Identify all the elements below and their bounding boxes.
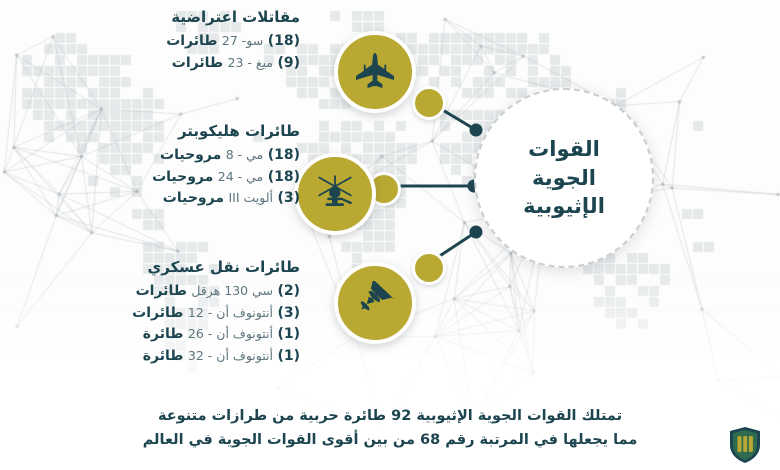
model-name: أنتونوف أن - 12 bbox=[188, 305, 273, 320]
fighter-jet-icon bbox=[354, 51, 396, 93]
group-title-interceptors: مقاتلات اعتراضية bbox=[166, 8, 300, 26]
aircraft-kind: طائرات bbox=[132, 305, 183, 321]
list-item: (18) سو- 27 طائرات bbox=[166, 31, 300, 53]
aircraft-kind: مروحيات bbox=[152, 169, 213, 185]
count-value: (9) bbox=[277, 55, 300, 71]
group-transport: طائرات نقل عسكري (2) سي 130 هرقل طائرات … bbox=[132, 258, 300, 368]
model-name: أنتونوف أن - 32 bbox=[188, 348, 273, 363]
list-item: (1) أنتونوف أن - 32 طائرة bbox=[132, 346, 300, 368]
model-name: أنتونوف أن - 26 bbox=[188, 326, 273, 341]
model-name: مي - 8 bbox=[226, 147, 264, 162]
count-value: (3) bbox=[277, 190, 300, 206]
infographic-root: القوات الجوية الإثيوبية bbox=[0, 0, 780, 470]
shield-logo bbox=[728, 426, 762, 464]
aircraft-kind: طائرات bbox=[136, 283, 187, 299]
aircraft-kind: طائرة bbox=[143, 326, 184, 342]
transport-plane-icon bbox=[353, 281, 397, 325]
badge-interceptors[interactable] bbox=[334, 31, 416, 113]
aircraft-kind: طائرة bbox=[143, 348, 184, 364]
list-item: (3) أنتونوف أن - 12 طائرات bbox=[132, 303, 300, 325]
hub-title-line-2: الجوية bbox=[532, 165, 596, 192]
count-value: (18) bbox=[268, 169, 300, 185]
footer-line-2: مما يجعلها في المرتبة رقم 68 من بين أقوى… bbox=[0, 429, 780, 452]
model-name: ميغ - 23 bbox=[228, 55, 273, 70]
count-value: (18) bbox=[268, 33, 300, 49]
aircraft-kind: مروحيات bbox=[163, 190, 224, 206]
model-name: مي - 24 bbox=[218, 169, 263, 184]
group-title-transport: طائرات نقل عسكري bbox=[132, 258, 300, 276]
count-value: (3) bbox=[277, 305, 300, 321]
footer-summary: تمتلك القوات الجوية الإثيوبية 92 طائرة ح… bbox=[0, 405, 780, 452]
footer-line-1: تمتلك القوات الجوية الإثيوبية 92 طائرة ح… bbox=[0, 405, 780, 428]
aircraft-kind: مروحيات bbox=[160, 147, 221, 163]
hub-title-line-3: الإثيوبية bbox=[523, 193, 605, 220]
model-name: ألويت III bbox=[228, 190, 273, 205]
group-title-helicopters: طائرات هليكوبتر bbox=[152, 122, 300, 140]
count-value: (18) bbox=[268, 147, 300, 163]
connector-dot-interceptors bbox=[412, 86, 446, 120]
aircraft-kind: طائرات bbox=[172, 55, 223, 71]
hub-title-line-1: القوات bbox=[528, 136, 600, 163]
count-value: (1) bbox=[277, 326, 300, 342]
count-value: (1) bbox=[277, 348, 300, 364]
helicopter-icon bbox=[313, 172, 357, 216]
list-item: (2) سي 130 هرقل طائرات bbox=[132, 281, 300, 303]
connector-dot-transport bbox=[412, 251, 446, 285]
list-item: (1) أنتونوف أن - 26 طائرة bbox=[132, 324, 300, 346]
badge-helicopters[interactable] bbox=[294, 153, 376, 235]
aircraft-kind: طائرات bbox=[166, 33, 217, 49]
badge-transport[interactable] bbox=[334, 262, 416, 344]
list-item: (9) ميغ - 23 طائرات bbox=[166, 53, 300, 75]
list-item: (18) مي - 24 مروحيات bbox=[152, 167, 300, 189]
model-name: سي 130 هرقل bbox=[191, 283, 273, 298]
count-value: (2) bbox=[277, 283, 300, 299]
group-helicopters: طائرات هليكوبتر (18) مي - 8 مروحيات (18)… bbox=[152, 122, 300, 210]
hub-circle: القوات الجوية الإثيوبية bbox=[474, 88, 654, 268]
model-name: سو- 27 bbox=[222, 33, 263, 48]
list-item: (3) ألويت III مروحيات bbox=[152, 188, 300, 210]
group-interceptors: مقاتلات اعتراضية (18) سو- 27 طائرات (9) … bbox=[166, 8, 300, 74]
list-item: (18) مي - 8 مروحيات bbox=[152, 145, 300, 167]
